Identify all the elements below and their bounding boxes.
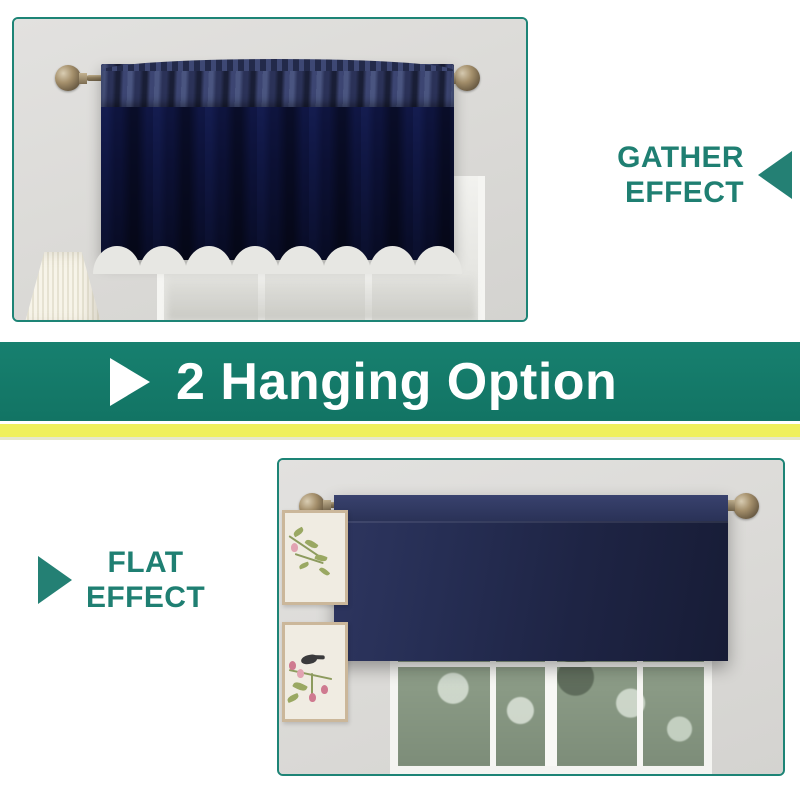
flat-effect-text: FLAT EFFECT <box>86 545 205 616</box>
yellow-divider <box>0 424 800 437</box>
gather-effect-text: GATHER EFFECT <box>617 140 744 211</box>
window-mullion <box>398 662 705 667</box>
play-triangle-icon <box>110 358 150 406</box>
yellow-divider-shadow <box>0 437 800 440</box>
valance-flat <box>334 495 727 661</box>
valance-hem-scallops <box>94 246 461 274</box>
valance-rod-pocket-gathers <box>101 64 454 107</box>
gather-photo-inner <box>14 19 526 320</box>
banner-title: 2 Hanging Option <box>176 352 617 412</box>
triangle-left-icon <box>758 151 792 199</box>
valance-rod-pocket-seam <box>334 521 727 523</box>
botanical-art-top <box>282 510 348 605</box>
flat-photo-inner <box>279 460 783 774</box>
bird-motif-icon <box>300 654 317 666</box>
flat-effect-label: FLAT EFFECT <box>38 545 205 616</box>
rod-finial-right-icon <box>733 493 759 519</box>
valance-top-fold <box>334 495 727 522</box>
flat-effect-photo[interactable] <box>277 458 785 776</box>
gather-effect-label: GATHER EFFECT <box>617 140 792 211</box>
infographic-root: GATHER EFFECT 2 Hanging Option <box>0 0 800 800</box>
hanging-option-banner: 2 Hanging Option <box>0 342 800 421</box>
botanical-art-bottom <box>282 622 348 722</box>
triangle-right-icon <box>38 556 72 604</box>
window-sill-blur <box>168 272 475 320</box>
valance-gathered <box>101 64 454 260</box>
gather-effect-photo[interactable] <box>12 17 528 322</box>
